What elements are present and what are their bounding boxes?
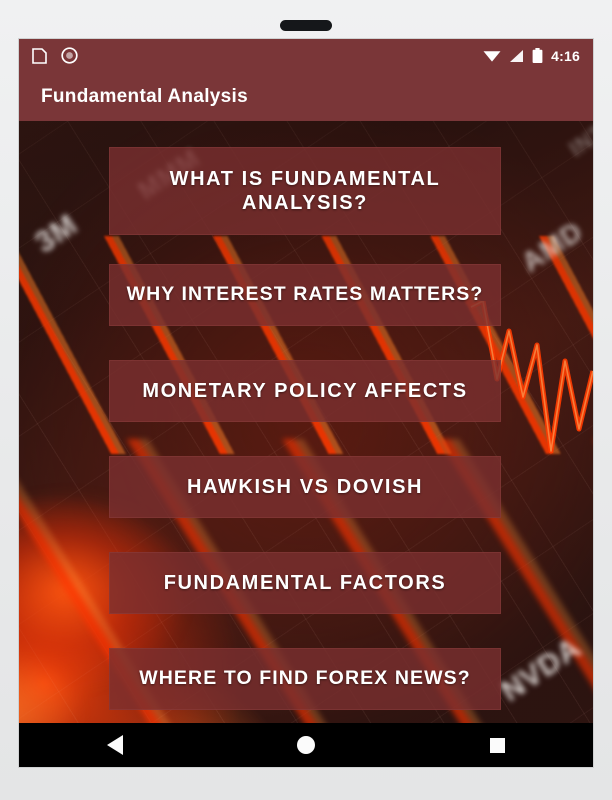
menu-button-label: FUNDAMENTAL FACTORS	[164, 571, 447, 595]
menu-button-label: WHY INTEREST RATES MATTERS?	[127, 283, 484, 307]
menu-button-label: MONETARY POLICY AFFECTS	[142, 379, 467, 403]
battery-icon	[532, 48, 543, 63]
recents-button[interactable]	[402, 738, 593, 753]
menu-button-label: WHERE TO FIND FOREX NEWS?	[139, 667, 471, 691]
app-bar: Fundamental Analysis	[19, 72, 593, 121]
menu-button-why-interest-rates-matters[interactable]: WHY INTEREST RATES MATTERS?	[109, 264, 501, 326]
menu-button-label: HAWKISH VS DOVISH	[187, 475, 423, 499]
menu-button-fundamental-factors[interactable]: FUNDAMENTAL FACTORS	[109, 552, 501, 614]
back-button[interactable]	[19, 735, 210, 755]
home-button[interactable]	[210, 736, 401, 754]
wifi-icon	[483, 49, 501, 63]
earpiece-speaker	[280, 20, 332, 31]
back-triangle-icon	[107, 735, 123, 755]
sim-card-icon	[32, 48, 47, 64]
status-bar: 4:16	[19, 39, 593, 72]
status-bar-clock: 4:16	[551, 48, 580, 64]
phone-device-frame: 3M MMM AMD NVDA INTC	[0, 0, 612, 800]
menu-button-what-is-fundamental-analysis[interactable]: WHAT IS FUNDAMENTAL ANALYSIS?	[109, 147, 501, 235]
status-bar-notification-icons	[32, 47, 78, 64]
cellular-signal-icon	[509, 49, 524, 63]
menu-button-monetary-policy-affects[interactable]: MONETARY POLICY AFFECTS	[109, 360, 501, 422]
menu-button-hawkish-vs-dovish[interactable]: HAWKISH VS DOVISH	[109, 456, 501, 518]
phone-screen: 3M MMM AMD NVDA INTC	[18, 38, 594, 768]
recents-square-icon	[490, 738, 505, 753]
camera-icon	[61, 47, 78, 64]
page-title: Fundamental Analysis	[41, 86, 248, 108]
home-circle-icon	[297, 736, 315, 754]
android-navigation-bar	[19, 723, 593, 767]
menu-button-list: WHAT IS FUNDAMENTAL ANALYSIS? WHY INTERE…	[19, 121, 593, 723]
menu-button-label: WHAT IS FUNDAMENTAL ANALYSIS?	[120, 167, 490, 216]
menu-button-where-to-find-forex-news[interactable]: WHERE TO FIND FOREX NEWS?	[109, 648, 501, 710]
status-bar-system-icons: 4:16	[483, 48, 580, 64]
